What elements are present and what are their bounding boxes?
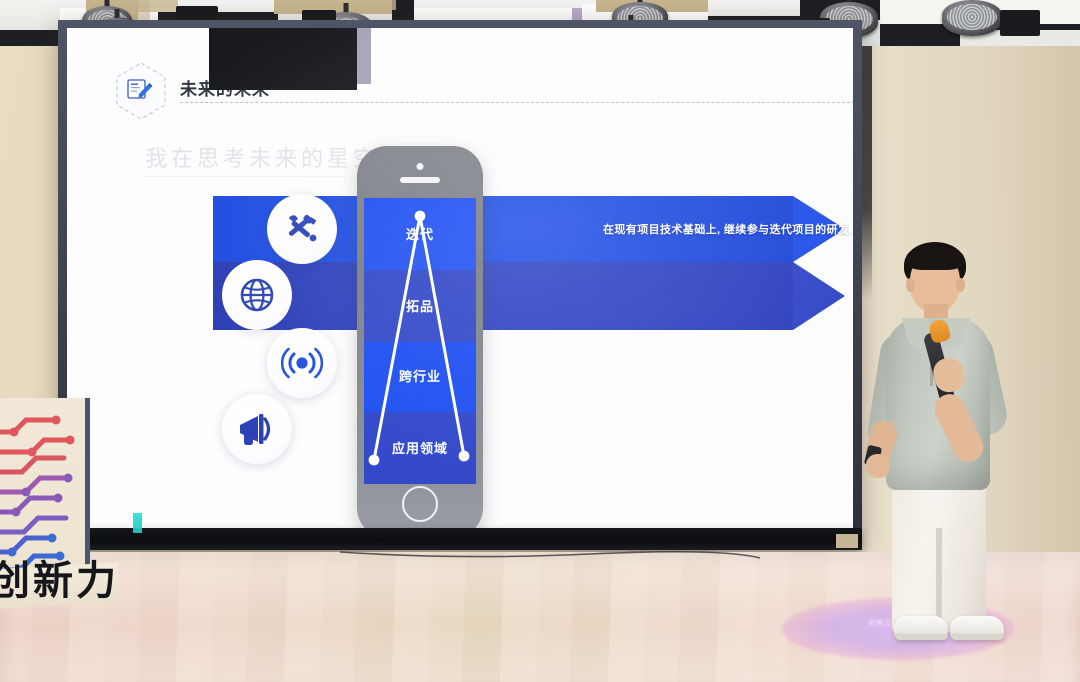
phone-screen: 迭代 拓品 跨行业 应用领域 <box>364 198 476 484</box>
floor-speaker <box>836 534 858 548</box>
led-display: 未来的未来 我在思考未来的星空 在现有项目技术基础上, 继续参与迭代 <box>67 28 853 528</box>
ceiling-panel <box>0 30 62 46</box>
phone-home-button[interactable] <box>402 486 438 522</box>
stage-cable <box>340 548 760 562</box>
megaphone-icon[interactable] <box>222 394 292 464</box>
presenter-ear <box>906 278 915 292</box>
phone-speaker <box>400 177 440 183</box>
presenter-shoe-left <box>894 616 948 640</box>
screenshot-scene: 未来的未来 我在思考未来的星空 在现有项目技术基础上, 继续参与迭代 <box>0 0 1080 682</box>
broadcast-signal-icon[interactable] <box>267 328 337 398</box>
stage-spotlight-body <box>1000 10 1040 36</box>
presenter-hand-left <box>866 454 890 478</box>
globe-icon[interactable] <box>222 260 292 330</box>
document-pen-icon <box>114 61 168 121</box>
banner-title: 创新力 <box>0 548 119 606</box>
phone-camera <box>417 163 424 170</box>
presenter-ear <box>956 278 965 292</box>
ceiling-post-occlusion <box>357 28 371 84</box>
process-arrow <box>213 262 845 330</box>
title-divider <box>145 176 345 177</box>
presenter-shoe-right <box>950 616 1004 640</box>
smartphone-mockup: 迭代 拓品 跨行业 应用领域 <box>357 146 483 528</box>
tools-wrench-screwdriver-icon[interactable] <box>267 194 337 264</box>
presenter-hair-front <box>906 246 964 270</box>
led-display-frame: 未来的未来 我在思考未来的星空 在现有项目技术基础上, 继续参与迭代 <box>58 20 862 544</box>
presentation-slide: 未来的未来 我在思考未来的星空 在现有项目技术基础上, 继续参与迭代 <box>67 28 853 528</box>
stage-accent-marker <box>133 513 142 533</box>
led-display-base <box>58 528 862 550</box>
trend-chart-overlay <box>364 198 476 484</box>
kicker-divider <box>180 102 853 103</box>
page-title: 我在思考未来的星空 <box>145 141 379 173</box>
stage-spotlight <box>942 0 1002 36</box>
ceiling-fixture-occlusion <box>209 28 357 90</box>
presenter <box>860 240 1050 660</box>
process-arrow-label: 在现有项目技术基础上, 继续参与迭代项目的研发. <box>603 221 853 237</box>
